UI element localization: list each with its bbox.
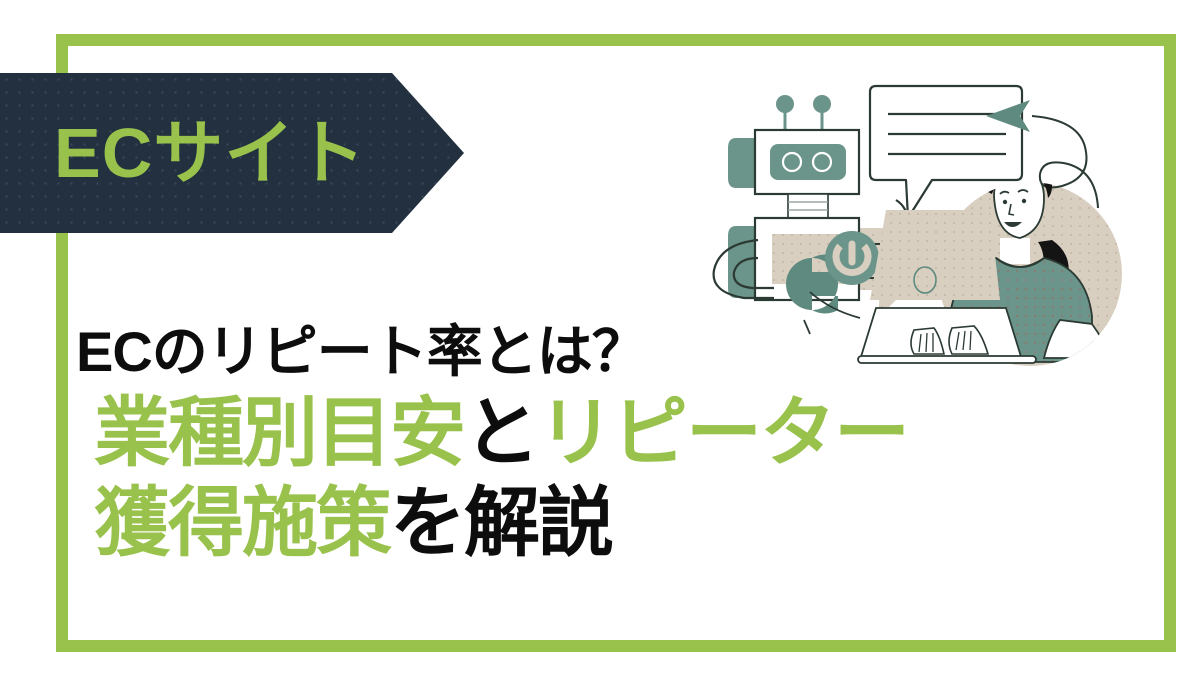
- illustration-svg: [700, 62, 1140, 372]
- woman-eye-left: [1003, 200, 1007, 204]
- illustration: [700, 62, 1140, 372]
- headline-line-3: 獲得施策を解説: [94, 486, 1076, 562]
- woman-eye-right: [1022, 199, 1026, 203]
- robot-antenna-ball-left: [776, 95, 794, 113]
- headline-line-2-segment-2: と: [464, 391, 538, 476]
- headline-line-1-segment-1: ECのリピート率とは？: [76, 320, 647, 383]
- robot-antenna-ball-right: [813, 95, 831, 113]
- eyecatch-canvas: ECサイト ECのリピート率とは？ 業種別目安とリピーター 獲得施策を解説: [0, 0, 1200, 675]
- headline-line-2-segment-3: リピーター: [538, 391, 908, 476]
- ribbon-label: ECサイト: [54, 118, 366, 188]
- headline-line-2-segment-1: 業種別目安: [94, 391, 464, 476]
- ribbon-banner: ECサイト: [0, 73, 464, 233]
- headline-line-3-segment-2: を解説: [390, 481, 612, 566]
- headline-line-3-segment-1: 獲得施策: [94, 481, 390, 566]
- headline-line-2: 業種別目安とリピーター: [94, 396, 1076, 472]
